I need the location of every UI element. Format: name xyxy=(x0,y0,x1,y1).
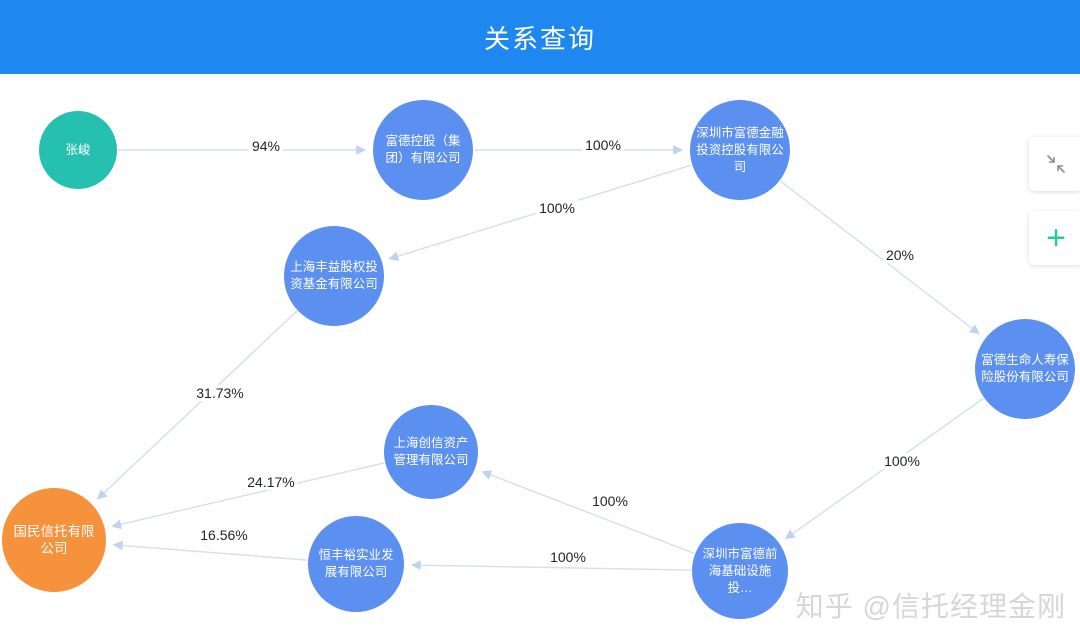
graph-node-guomin[interactable]: 国民信托有限公司 xyxy=(2,488,106,592)
graph-node-label: 上海丰益股权投资基金有限公司 xyxy=(284,259,384,293)
graph-node-label: 富德生命人寿保险股份有限公司 xyxy=(975,352,1075,386)
graph-edge[interactable] xyxy=(98,311,297,499)
edge-label: 20% xyxy=(883,247,917,263)
graph-node-label: 深圳市富德前海基础设施投… xyxy=(692,546,788,597)
graph-node-fude_life[interactable]: 富德生命人寿保险股份有限公司 xyxy=(975,319,1075,419)
graph-node-label: 张峻 xyxy=(59,142,96,159)
fit-view-button[interactable] xyxy=(1029,137,1080,191)
graph-edges-layer xyxy=(0,74,1080,633)
page-title: 关系查询 xyxy=(484,19,596,56)
edge-label: 100% xyxy=(881,453,923,469)
graph-node-sz_fude_fin[interactable]: 深圳市富德金融投资控股有限公司 xyxy=(690,100,790,200)
graph-edge[interactable] xyxy=(114,545,307,560)
graph-node-label: 国民信托有限公司 xyxy=(2,523,106,557)
plus-icon: + xyxy=(1046,221,1066,255)
edge-label: 100% xyxy=(582,137,624,153)
edge-label: 100% xyxy=(589,493,631,509)
edge-label: 31.73% xyxy=(193,385,246,401)
relationship-graph-app: 关系查询 张峻富德控股（集团）有限公司深圳市富德金融投资控股有限公司上海丰益股权… xyxy=(0,0,1080,633)
zoom-in-button[interactable]: + xyxy=(1029,211,1080,265)
graph-node-hengfengyu[interactable]: 恒丰裕实业发展有限公司 xyxy=(308,516,404,612)
graph-edge[interactable] xyxy=(482,472,694,554)
graph-node-fude_holding[interactable]: 富德控股（集团）有限公司 xyxy=(373,100,473,200)
edge-label: 100% xyxy=(536,200,578,216)
collapse-arrows-icon xyxy=(1044,152,1068,176)
edge-label: 100% xyxy=(547,549,589,565)
graph-node-label: 恒丰裕实业发展有限公司 xyxy=(308,547,404,581)
graph-node-sz_qianhai[interactable]: 深圳市富德前海基础设施投… xyxy=(692,523,788,619)
graph-node-label: 上海创信资产管理有限公司 xyxy=(384,435,478,469)
edge-label: 94% xyxy=(249,138,283,154)
page-header: 关系查询 xyxy=(0,0,1080,74)
graph-node-label: 深圳市富德金融投资控股有限公司 xyxy=(690,125,790,176)
graph-node-sh_chuangxin[interactable]: 上海创信资产管理有限公司 xyxy=(384,405,478,499)
graph-node-sh_fengyi[interactable]: 上海丰益股权投资基金有限公司 xyxy=(284,226,384,326)
graph-node-label: 富德控股（集团）有限公司 xyxy=(373,133,473,167)
graph-edge[interactable] xyxy=(780,181,979,334)
edge-label: 16.56% xyxy=(197,527,250,543)
graph-edge[interactable] xyxy=(412,565,691,570)
graph-canvas[interactable]: 张峻富德控股（集团）有限公司深圳市富德金融投资控股有限公司上海丰益股权投资基金有… xyxy=(0,74,1080,633)
graph-node-zhangjun[interactable]: 张峻 xyxy=(39,111,117,189)
edge-label: 24.17% xyxy=(244,474,297,490)
